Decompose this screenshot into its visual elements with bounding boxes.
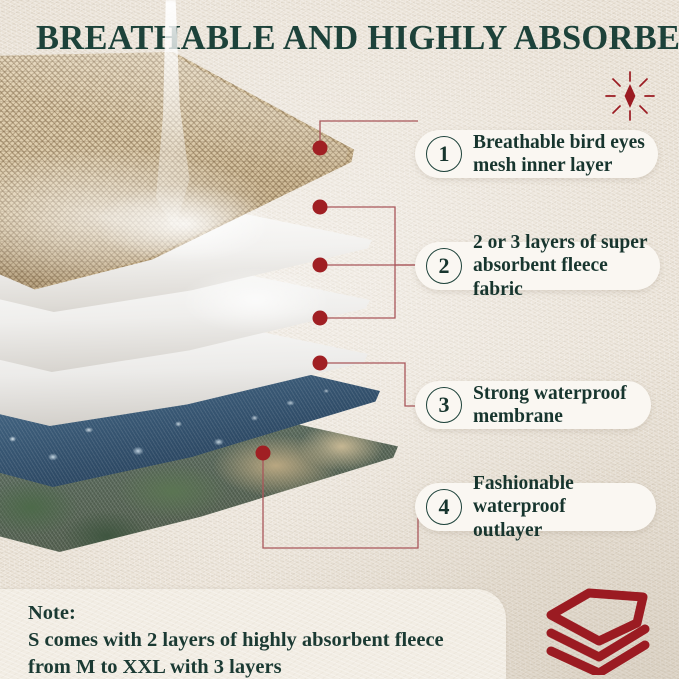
callout-label-3[interactable]: 3 Strong waterproof membrane xyxy=(415,381,651,429)
callout-text-2: 2 or 3 layers of super absorbent fleece … xyxy=(473,231,650,301)
callout-text-2-line-2: absorbent fleece fabric xyxy=(473,254,650,301)
note-line-1: S comes with 2 layers of highly absorben… xyxy=(28,627,444,654)
callout-number-4: 4 xyxy=(426,489,462,525)
callout-text-1-line-2: mesh inner layer xyxy=(473,154,645,177)
callout-text-1: Breathable bird eyes mesh inner layer xyxy=(473,131,645,178)
callout-number-2: 2 xyxy=(426,248,462,284)
note-line-2: from M to XXL with 3 layers xyxy=(28,654,444,679)
fabric-layer-stack-artwork xyxy=(0,52,420,552)
callout-label-1[interactable]: 1 Breathable bird eyes mesh inner layer xyxy=(415,130,658,178)
callout-text-4: Fashionable waterproof outlayer xyxy=(473,472,646,542)
callout-label-2[interactable]: 2 2 or 3 layers of super absorbent fleec… xyxy=(415,242,660,290)
note-body: Note: S comes with 2 layers of highly ab… xyxy=(28,600,444,679)
stacked-layers-icon xyxy=(545,583,655,675)
water-spray-lower xyxy=(170,260,360,350)
callout-text-1-line-1: Breathable bird eyes xyxy=(473,131,645,154)
callout-number-3: 3 xyxy=(426,387,462,423)
note-heading: Note: xyxy=(28,600,444,627)
callout-text-3-line-1: Strong waterproof xyxy=(473,382,627,405)
infographic-canvas: BREATHABLE AND HIGHLY ABSORBENT xyxy=(0,0,679,679)
sparkle-star-icon xyxy=(602,68,658,124)
callout-number-1: 1 xyxy=(426,136,462,172)
callout-text-3-line-2: membrane xyxy=(473,405,627,428)
callout-text-3: Strong waterproof membrane xyxy=(473,382,627,429)
callout-label-4[interactable]: 4 Fashionable waterproof outlayer xyxy=(415,483,656,531)
callout-text-2-line-1: 2 or 3 layers of super xyxy=(473,231,650,254)
callout-text-4-line-2: outlayer xyxy=(473,519,646,542)
callout-text-4-line-1: Fashionable waterproof xyxy=(473,472,646,519)
note-panel: Note: S comes with 2 layers of highly ab… xyxy=(0,589,506,679)
